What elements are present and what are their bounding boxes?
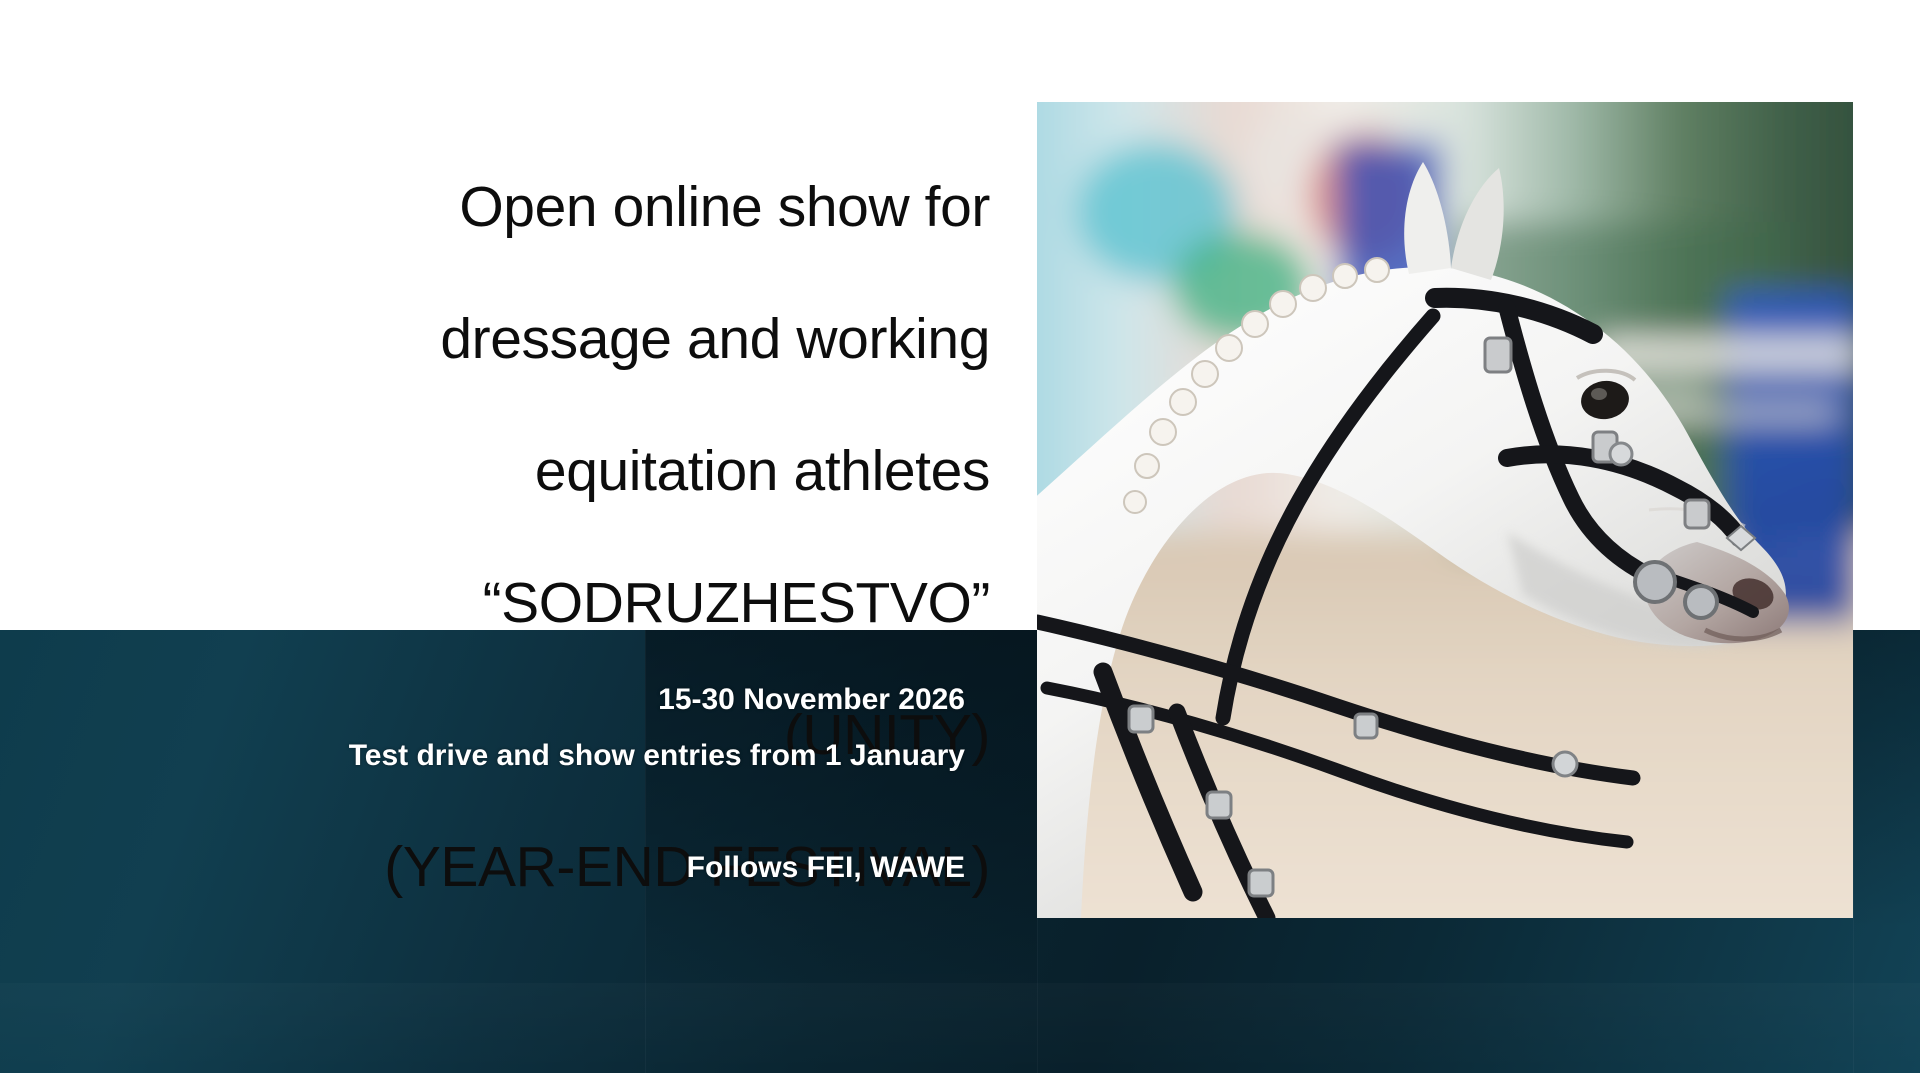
event-rules: Follows FEI, WAWE xyxy=(120,840,965,896)
event-entries-note: Test drive and show entries from 1 Janua… xyxy=(120,728,965,784)
horse-photo xyxy=(1037,102,1853,918)
info-spacer xyxy=(120,784,965,840)
title-line-1: Open online show for xyxy=(150,174,990,240)
band-bottom-strip xyxy=(0,983,1920,1073)
title-line-4: “SODRUZHESTVO” xyxy=(150,570,990,636)
presentation-slide: Open online show for dressage and workin… xyxy=(0,0,1920,1073)
band-right-shade xyxy=(1853,630,1920,930)
title-line-2: dressage and working xyxy=(150,306,990,372)
title-line-3: equitation athletes xyxy=(150,438,990,504)
band-seam-right xyxy=(1853,630,1854,1073)
event-dates: 15-30 November 2026 xyxy=(120,672,965,728)
event-details: 15-30 November 2026 Test drive and show … xyxy=(120,672,965,896)
